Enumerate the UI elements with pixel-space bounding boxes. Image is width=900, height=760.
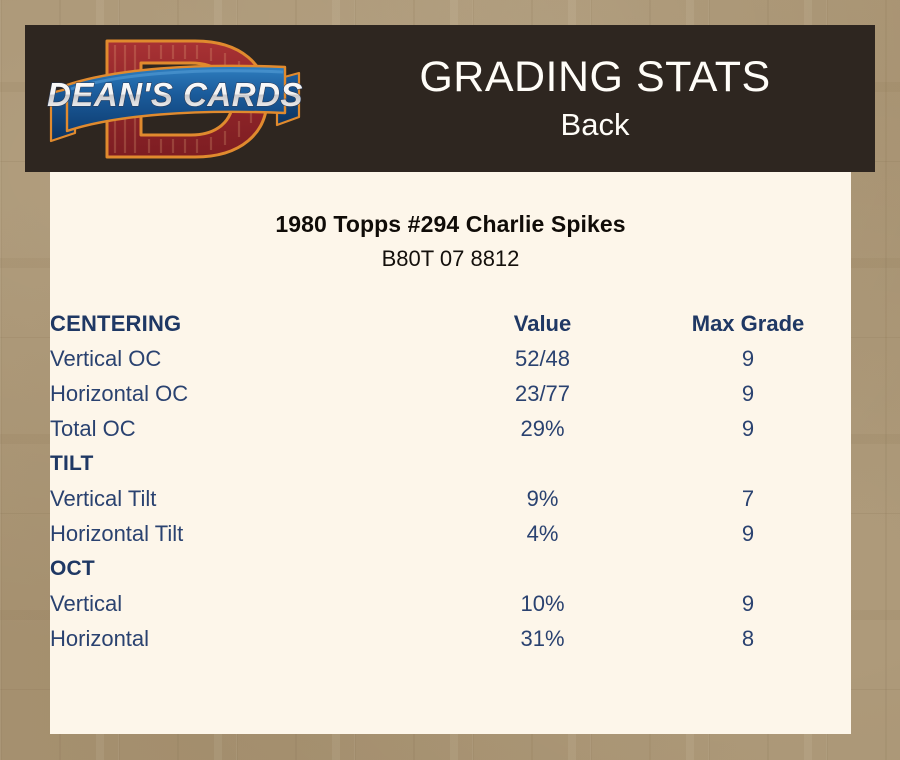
card-code: B80T 07 8812 bbox=[50, 245, 851, 273]
header-titles: GRADING STATS Back bbox=[315, 25, 875, 172]
header-bar: DEAN'S CARDS GRADING STATS Back bbox=[25, 25, 875, 172]
group-header-centering: CENTERING bbox=[50, 306, 440, 341]
row-value: 29% bbox=[440, 411, 645, 446]
deans-cards-logo[interactable]: DEAN'S CARDS bbox=[45, 29, 303, 169]
row-label: Total OC bbox=[50, 411, 440, 446]
table-row: Horizontal OC 23/77 9 bbox=[50, 376, 851, 411]
row-grade: 9 bbox=[645, 376, 851, 411]
row-label: Horizontal bbox=[50, 621, 440, 656]
row-value: 4% bbox=[440, 516, 645, 551]
group-spacer-value bbox=[440, 446, 645, 481]
row-grade: 9 bbox=[645, 411, 851, 446]
row-label: Horizontal OC bbox=[50, 376, 440, 411]
table-row: Vertical 10% 9 bbox=[50, 586, 851, 621]
row-value: 23/77 bbox=[440, 376, 645, 411]
row-grade: 9 bbox=[645, 341, 851, 376]
column-header-value: Value bbox=[440, 306, 645, 341]
row-label: Vertical bbox=[50, 586, 440, 621]
row-value: 31% bbox=[440, 621, 645, 656]
row-label: Vertical Tilt bbox=[50, 481, 440, 516]
column-header-max-grade: Max Grade bbox=[645, 306, 851, 341]
group-row-oct: OCT bbox=[50, 551, 851, 586]
table-header-row: CENTERING Value Max Grade bbox=[50, 306, 851, 341]
logo-ribbon-text: DEAN'S CARDS bbox=[47, 76, 303, 113]
row-grade: 7 bbox=[645, 481, 851, 516]
table-row: Vertical Tilt 9% 7 bbox=[50, 481, 851, 516]
table-row: Total OC 29% 9 bbox=[50, 411, 851, 446]
row-grade: 8 bbox=[645, 621, 851, 656]
page-subtitle: Back bbox=[561, 106, 630, 144]
row-value: 10% bbox=[440, 586, 645, 621]
group-row-tilt: TILT bbox=[50, 446, 851, 481]
card-title: 1980 Topps #294 Charlie Spikes bbox=[50, 210, 851, 238]
logo-ribbon: DEAN'S CARDS bbox=[47, 66, 303, 141]
group-label: OCT bbox=[50, 551, 440, 586]
group-spacer-value bbox=[440, 551, 645, 586]
card-identity: 1980 Topps #294 Charlie Spikes B80T 07 8… bbox=[50, 172, 851, 273]
row-grade: 9 bbox=[645, 516, 851, 551]
row-value: 9% bbox=[440, 481, 645, 516]
group-spacer-grade bbox=[645, 551, 851, 586]
content-panel: 1980 Topps #294 Charlie Spikes B80T 07 8… bbox=[50, 172, 851, 734]
row-grade: 9 bbox=[645, 586, 851, 621]
stats-table-body: CENTERING Value Max Grade Vertical OC 52… bbox=[50, 306, 851, 656]
grading-stats-table: CENTERING Value Max Grade Vertical OC 52… bbox=[50, 306, 851, 656]
page-title: GRADING STATS bbox=[419, 52, 770, 102]
table-row: Horizontal 31% 8 bbox=[50, 621, 851, 656]
group-spacer-grade bbox=[645, 446, 851, 481]
group-label: TILT bbox=[50, 446, 440, 481]
table-row: Horizontal Tilt 4% 9 bbox=[50, 516, 851, 551]
row-value: 52/48 bbox=[440, 341, 645, 376]
table-row: Vertical OC 52/48 9 bbox=[50, 341, 851, 376]
row-label: Vertical OC bbox=[50, 341, 440, 376]
grading-stats-page: DEAN'S CARDS GRADING STATS Back 1980 Top… bbox=[0, 0, 900, 760]
row-label: Horizontal Tilt bbox=[50, 516, 440, 551]
